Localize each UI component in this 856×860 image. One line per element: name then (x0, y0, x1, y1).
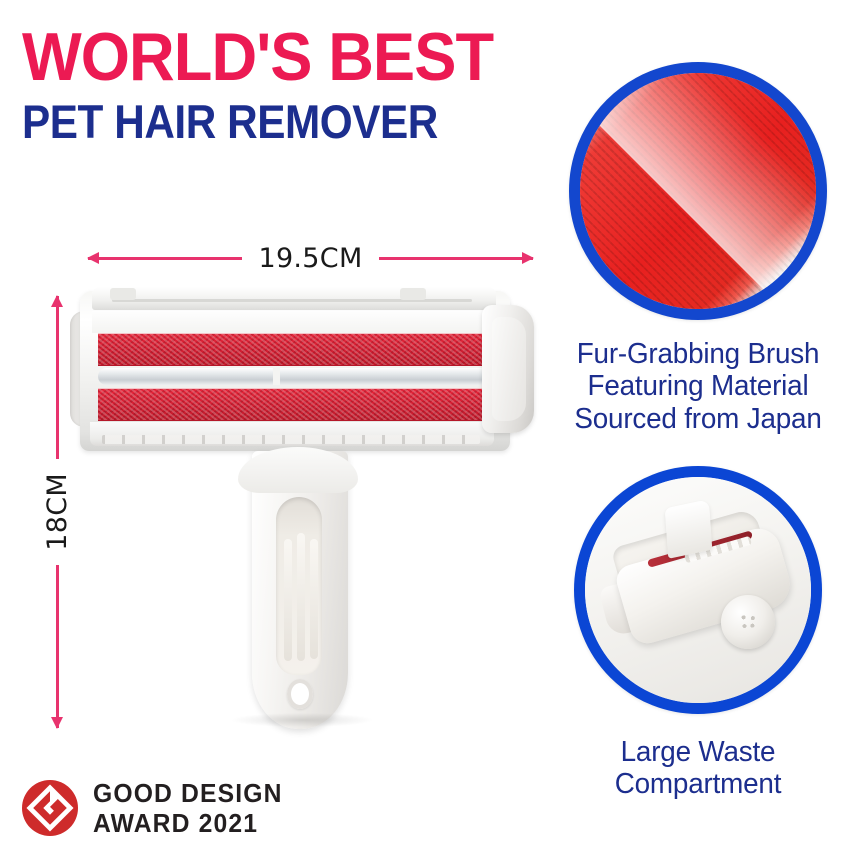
width-dimension-annotation: 19.5CM (88, 238, 533, 278)
roller-silver-band-split (273, 368, 280, 385)
feature-caption-line: Large Waste (554, 736, 842, 768)
headline-secondary: PET HAIR REMOVER (22, 98, 472, 145)
product-handle (244, 451, 356, 731)
width-dimension-label: 19.5CM (242, 243, 378, 274)
width-arrow-left-icon (88, 257, 242, 260)
red-brush-strip-lower (98, 388, 486, 421)
product-drop-shadow (232, 713, 372, 727)
feature-caption-line: Sourced from Japan (554, 403, 842, 435)
roller-head (70, 283, 532, 460)
roller-lid-notch (110, 288, 136, 300)
feature-caption-line: Featuring Material (554, 370, 842, 402)
handle-rib (310, 539, 318, 659)
feature-callout-large-waste-compartment: Large Waste Compartment (548, 466, 848, 801)
height-arrow-up-icon (56, 296, 59, 459)
width-arrow-right-icon (379, 257, 533, 260)
roller-white-band-top (92, 311, 492, 333)
roller-lid (92, 286, 496, 310)
compartment-flap (665, 499, 713, 558)
award-text-line: GOOD DESIGN (93, 778, 283, 808)
roller-silver-band (98, 368, 490, 385)
product-infographic-poster: WORLD'S BEST PET HAIR REMOVER 19.5CM 18C… (0, 0, 856, 860)
handle-hanging-hole (287, 679, 313, 709)
roller-end-cap-right (482, 305, 534, 433)
award-logo-glyph (22, 780, 78, 836)
height-arrow-down-icon (56, 565, 59, 728)
roller-lid-notch (400, 288, 426, 300)
product-photo (62, 283, 540, 733)
feature-callout-fur-grabbing-brush: Fur-Grabbing Brush Featuring Material So… (548, 62, 848, 435)
good-design-award-logo-icon (22, 780, 78, 836)
waste-compartment-photo (585, 477, 811, 703)
red-brush-closeup-photo (569, 62, 827, 320)
feature-photo-circle-brush (569, 62, 827, 320)
headline-block: WORLD'S BEST PET HAIR REMOVER (22, 26, 522, 145)
good-design-award-badge: GOOD DESIGN AWARD 2021 (22, 778, 293, 838)
handle-rib (284, 539, 292, 661)
handle-rib (297, 533, 305, 661)
headline-primary: WORLD'S BEST (22, 26, 487, 89)
feature-caption-brush: Fur-Grabbing Brush Featuring Material So… (554, 338, 842, 435)
feature-caption-compartment: Large Waste Compartment (554, 736, 842, 801)
feature-photo-circle-compartment (574, 466, 822, 714)
feature-caption-line: Fur-Grabbing Brush (554, 338, 842, 370)
red-brush-strip-upper (98, 333, 488, 366)
compartment-end-knob (721, 595, 775, 649)
award-text-line: AWARD 2021 (93, 808, 283, 838)
feature-caption-line: Compartment (554, 768, 842, 800)
roller-comb-teeth (102, 435, 480, 444)
good-design-award-text: GOOD DESIGN AWARD 2021 (93, 778, 283, 838)
